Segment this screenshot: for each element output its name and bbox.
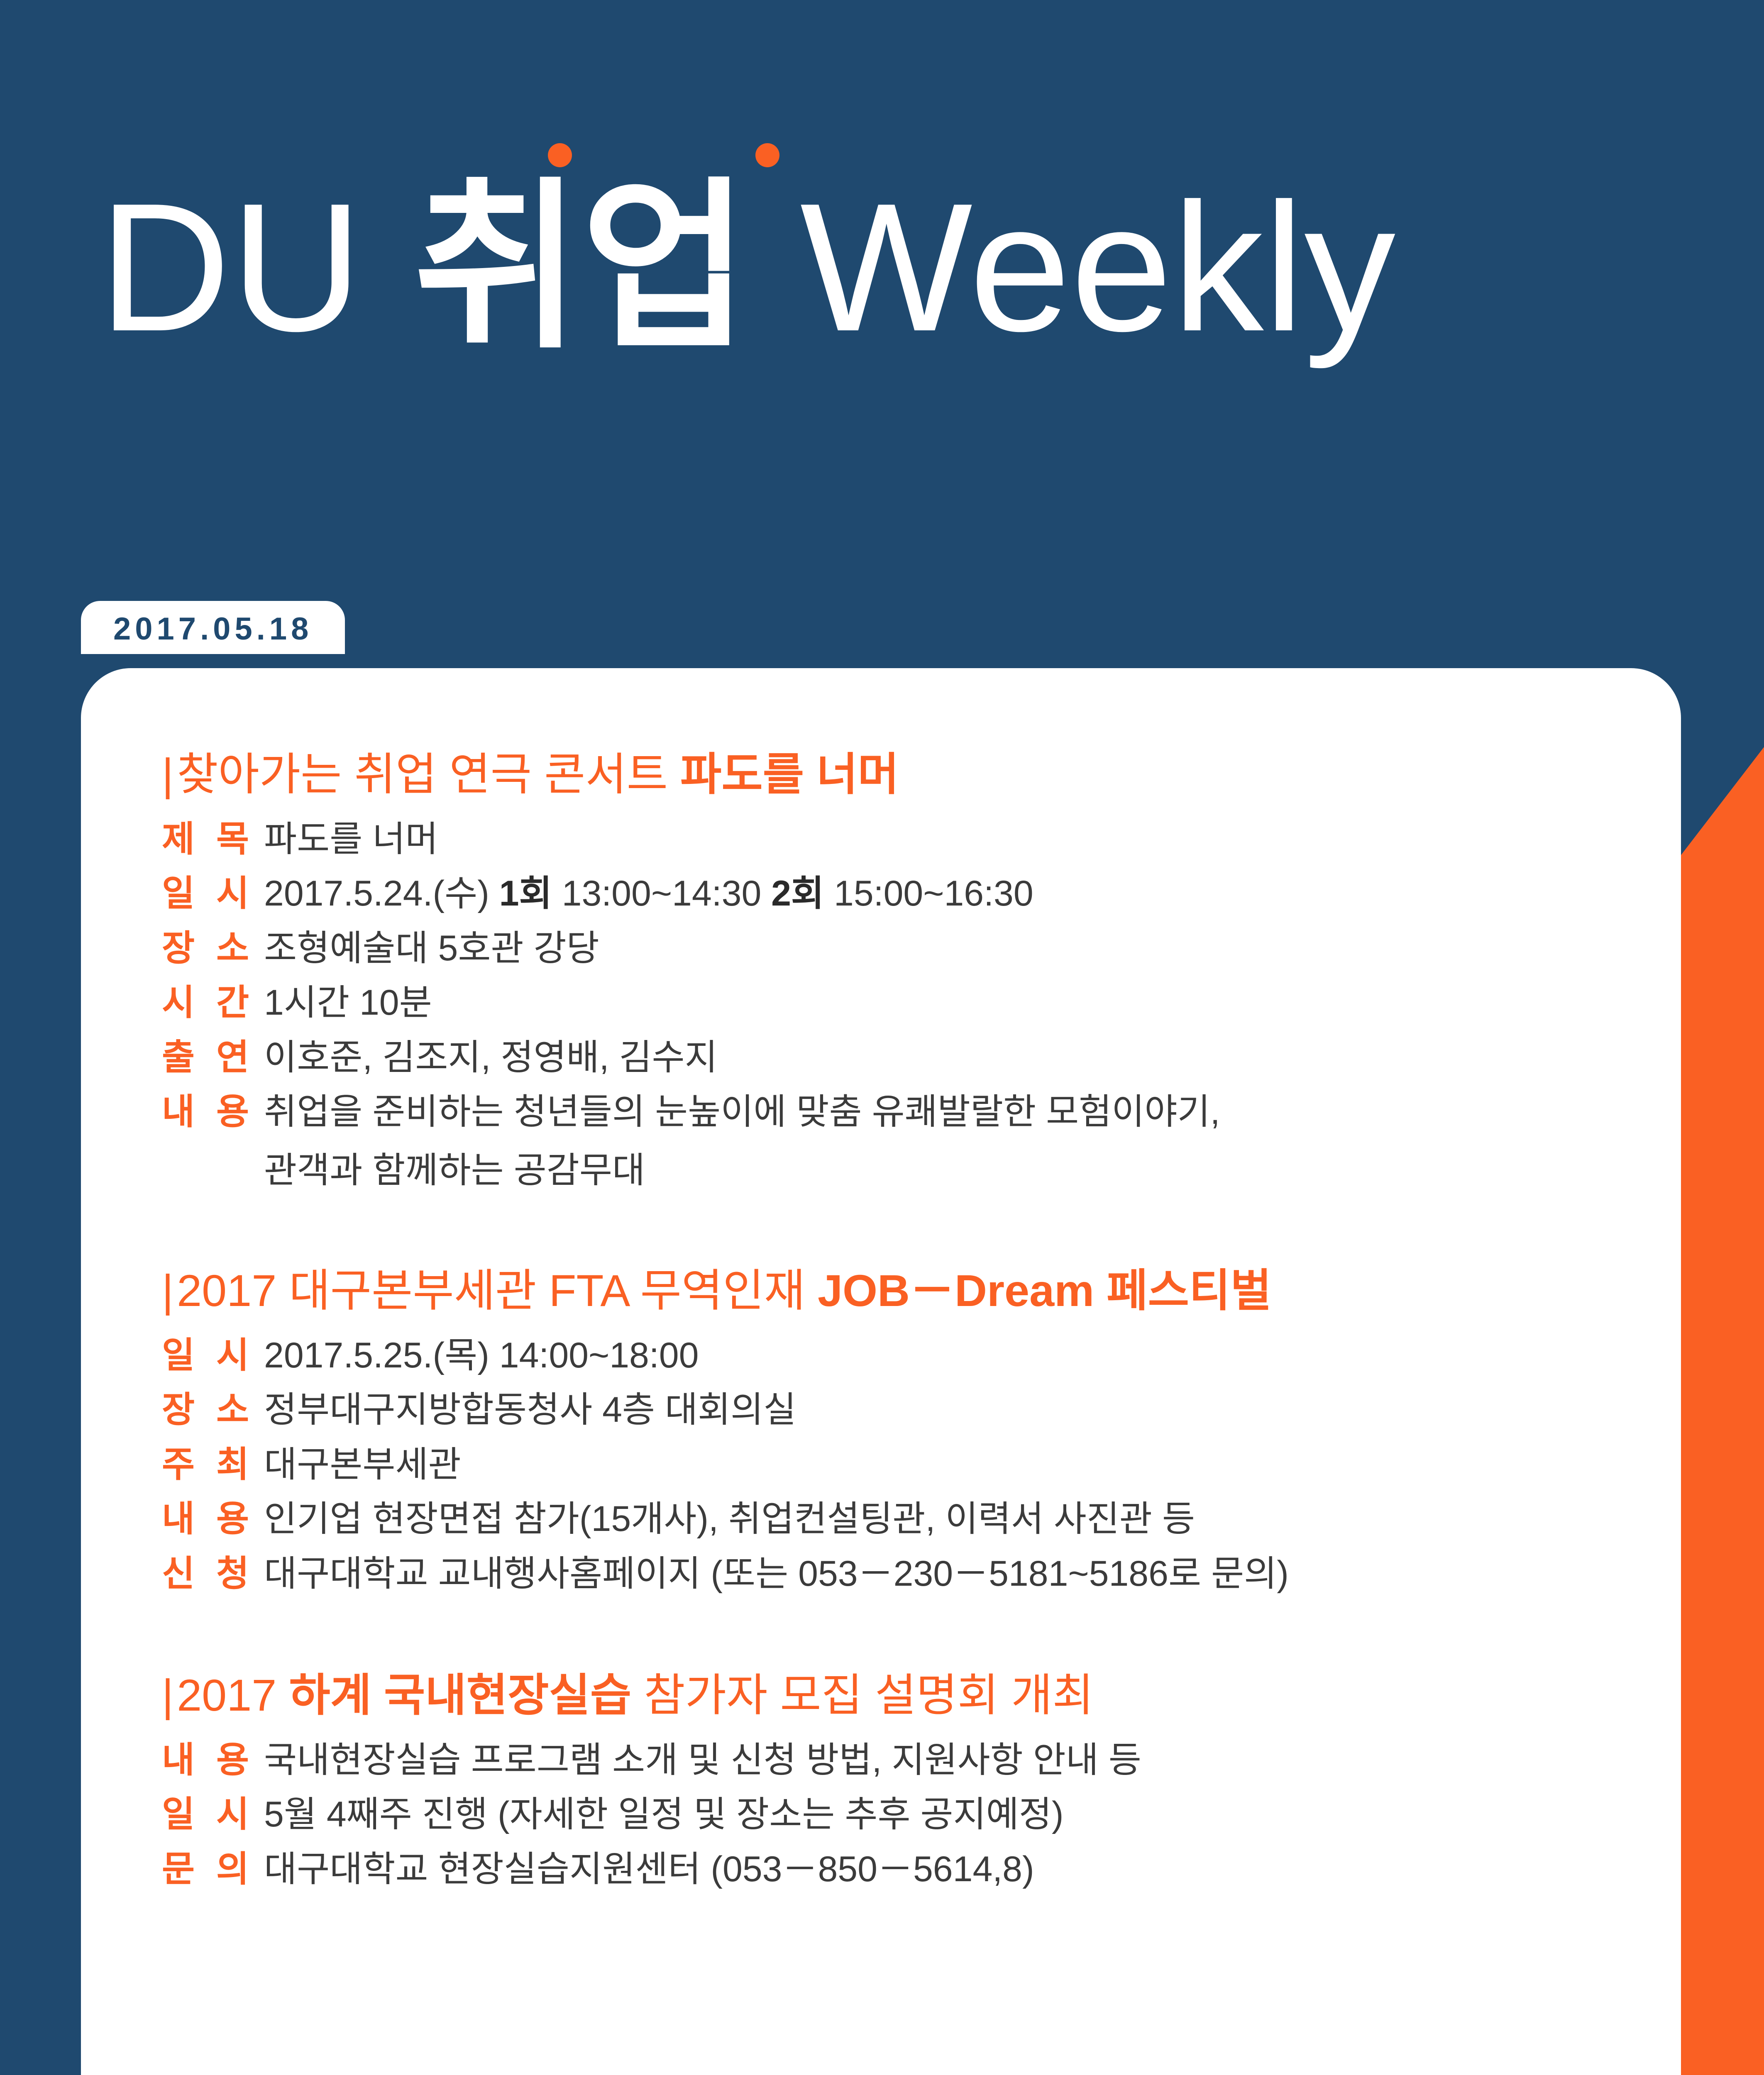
row-label: 장 소 — [162, 925, 264, 972]
row-value: 국내현장실습 프로그램 소개 및 신청 방법, 지원사항 안내 등 — [264, 1737, 1141, 1784]
row-label: 장 소 — [162, 1387, 264, 1434]
row-value: 파도를 너머 — [264, 816, 438, 863]
row-label: 일 시 — [162, 1332, 264, 1379]
orange-dot-icon-left — [548, 143, 572, 167]
heading-bar: | — [162, 1265, 173, 1316]
session-2-time: 15:00~16:30 — [824, 874, 1033, 913]
row-value: 2017.5.24.(수) 1회 13:00~14:30 2회 15:00~16… — [264, 870, 1033, 918]
row-label: 문 의 — [162, 1846, 264, 1893]
heading-normal-post: 참가자 모집 설명회 개최 — [631, 1670, 1094, 1720]
detail-row: 문 의 대구대학교 현장실습지원센터 (053－850－5614,8) — [162, 1846, 1623, 1893]
detail-row: 신 청 대구대학교 교내행사홈페이지 (또는 053－230－5181~5186… — [162, 1550, 1623, 1598]
row-label: 내 용 — [162, 1496, 264, 1543]
heading-normal: 찾아가는 취업 연극 콘서트 — [177, 749, 680, 799]
row-value: 대구대학교 현장실습지원센터 (053－850－5614,8) — [264, 1846, 1034, 1893]
heading-bar: | — [162, 749, 173, 799]
masthead-title: DU 취업 Weekly — [99, 176, 1395, 359]
date-badge-text: 2017.05.18 — [113, 613, 313, 645]
masthead-title-bold: 취업 — [413, 166, 750, 369]
heading-normal: 2017 대구본부세관 FTA 무역인재 — [177, 1265, 818, 1316]
row-value: 2017.5.25.(목) 14:00~18:00 — [264, 1332, 699, 1379]
masthead-dots — [548, 143, 779, 167]
heading-bold: 하계 국내현장실습 — [289, 1670, 631, 1720]
session-1-time: 13:00~14:30 — [552, 874, 771, 913]
row-label: 일 시 — [162, 870, 264, 918]
detail-row: 일 시 5월 4째주 진행 (자세한 일정 및 장소는 추후 공지예정) — [162, 1791, 1623, 1838]
row-value: 취업을 준비하는 청년들의 눈높이에 맞춤 유쾌발랄한 모험이야기, — [264, 1089, 1220, 1136]
row-value: 조형예술대 5호관 강당 — [264, 925, 599, 972]
detail-row: 내 용 인기업 현장면접 참가(15개사), 취업컨설팅관, 이력서 사진관 등 — [162, 1496, 1623, 1543]
section-job-dream-festival: |2017 대구본부세관 FTA 무역인재 JOB－Dream 페스티벌 일 시… — [162, 1263, 1623, 1597]
row-label: 일 시 — [162, 1791, 264, 1838]
row-value: 이호준, 김조지, 정영배, 김수지 — [264, 1034, 718, 1081]
heading-bold: 파도를 너머 — [680, 749, 899, 799]
detail-row: 시 간 1시간 10분 — [162, 979, 1623, 1027]
row-label: 내 용 — [162, 1089, 264, 1136]
masthead-title-prefix: DU — [99, 166, 413, 369]
row-label: 주 최 — [162, 1441, 264, 1489]
poster-canvas: DU 취업 Weekly 2017.05.18 |찾아가는 취업 연극 콘서트 … — [0, 0, 1764, 2075]
section-heading: |찾아가는 취업 연극 콘서트 파도를 너머 — [162, 747, 1623, 802]
row-label: 내 용 — [162, 1737, 264, 1784]
session-1-label: 1회 — [499, 874, 552, 913]
section-spacer — [162, 1193, 1623, 1263]
date-text: 2017.5.24.(수) — [264, 874, 499, 913]
detail-row: 제 목 파도를 너머 — [162, 816, 1623, 863]
row-value: 대구본부세관 — [264, 1441, 461, 1489]
detail-row: 내 용 취업을 준비하는 청년들의 눈높이에 맞춤 유쾌발랄한 모험이야기, — [162, 1089, 1623, 1136]
detail-row: 장 소 조형예술대 5호관 강당 — [162, 925, 1623, 972]
row-value-continuation: 관객과 함께하는 공감무대 — [264, 1141, 1623, 1193]
row-label: 신 청 — [162, 1550, 264, 1598]
row-label: 시 간 — [162, 979, 264, 1027]
detail-row: 출 연 이호준, 김조지, 정영배, 김수지 — [162, 1034, 1623, 1081]
masthead: DU 취업 Weekly — [0, 0, 1764, 581]
heading-bar: | — [162, 1670, 173, 1720]
detail-row: 주 최 대구본부세관 — [162, 1441, 1623, 1489]
section-spacer — [162, 1597, 1623, 1668]
date-badge: 2017.05.18 — [81, 601, 345, 654]
content-body: |찾아가는 취업 연극 콘서트 파도를 너머 제 목 파도를 너머 일 시 20… — [162, 747, 1623, 1893]
section-heading: |2017 하계 국내현장실습 참가자 모집 설명회 개최 — [162, 1668, 1623, 1723]
row-value: 대구대학교 교내행사홈페이지 (또는 053－230－5181~5186로 문의… — [264, 1550, 1289, 1598]
row-value: 인기업 현장면접 참가(15개사), 취업컨설팅관, 이력서 사진관 등 — [264, 1496, 1195, 1543]
detail-row: 내 용 국내현장실습 프로그램 소개 및 신청 방법, 지원사항 안내 등 — [162, 1737, 1623, 1784]
row-label: 출 연 — [162, 1034, 264, 1081]
heading-bold: JOB－Dream 페스티벌 — [818, 1265, 1272, 1316]
heading-normal-pre: 2017 — [177, 1670, 289, 1720]
row-value: 1시간 10분 — [264, 979, 432, 1027]
orange-dot-icon-right — [755, 143, 779, 167]
section-theatre-concert: |찾아가는 취업 연극 콘서트 파도를 너머 제 목 파도를 너머 일 시 20… — [162, 747, 1623, 1193]
masthead-title-suffix: Weekly — [749, 166, 1395, 369]
session-2-label: 2회 — [771, 874, 824, 913]
section-heading: |2017 대구본부세관 FTA 무역인재 JOB－Dream 페스티벌 — [162, 1263, 1623, 1318]
section-summer-internship-briefing: |2017 하계 국내현장실습 참가자 모집 설명회 개최 내 용 국내현장실습… — [162, 1668, 1623, 1893]
row-label: 제 목 — [162, 816, 264, 863]
detail-row: 장 소 정부대구지방합동청사 4층 대회의실 — [162, 1387, 1623, 1434]
detail-row: 일 시 2017.5.25.(목) 14:00~18:00 — [162, 1332, 1623, 1379]
row-value: 정부대구지방합동청사 4층 대회의실 — [264, 1387, 796, 1434]
detail-row: 일 시 2017.5.24.(수) 1회 13:00~14:30 2회 15:0… — [162, 870, 1623, 918]
row-value: 5월 4째주 진행 (자세한 일정 및 장소는 추후 공지예정) — [264, 1791, 1063, 1838]
